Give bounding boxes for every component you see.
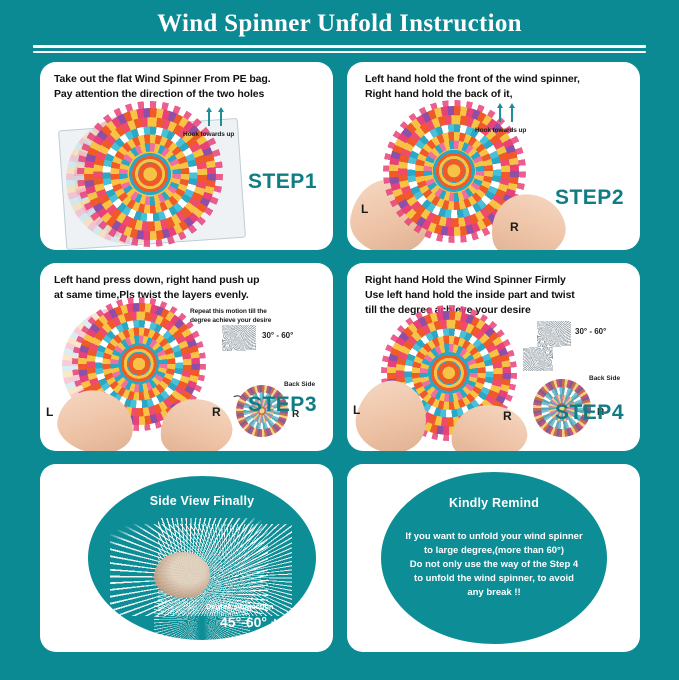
step2-right-hand-label: R: [510, 220, 519, 234]
step3-repeat-note-line2: degree achieve your desire: [190, 316, 271, 325]
remind-line-3: Do not only use the way of the Step 4: [381, 558, 607, 572]
step4-line-3: till the degree achieve your desire: [365, 303, 627, 318]
hook-arrow-left-icon: [208, 110, 210, 126]
panel-step2: Left hand hold the front of the wind spi…: [347, 62, 640, 250]
kindly-remind-title: Kindly Remind: [381, 496, 607, 510]
step2-left-hand-label: L: [361, 202, 368, 216]
step1-label: STEP1: [248, 170, 317, 194]
step3-line-2: at same time,Pls twist the layers evenly…: [54, 288, 322, 303]
step3-line-1: Left hand press down, right hand push up: [54, 273, 322, 288]
step2-line-1: Left hand hold the front of the wind spi…: [365, 72, 627, 87]
step1-line-1: Take out the flat Wind Spinner From PE b…: [54, 72, 322, 87]
step4-left-hand-label: L: [353, 403, 360, 417]
step3-instruction: Left hand press down, right hand push up…: [54, 273, 322, 303]
side-view-title: Side View Finally: [88, 494, 316, 508]
spinner-center: [138, 162, 162, 186]
step1-line-2: Pay attention the direction of the two h…: [54, 87, 322, 102]
instruction-poster: Wind Spinner Unfold Instruction Take out…: [0, 0, 679, 680]
step3-repeat-note-line1: Repeat this motion till the: [190, 307, 267, 316]
title-divider: [33, 45, 646, 53]
kindly-remind-ellipse: Kindly Remind If you want to unfold your…: [381, 472, 607, 644]
step4-degree-fan-icon: [537, 321, 571, 347]
kindly-remind-body: If you want to unfold your wind spinner …: [381, 530, 607, 600]
panel-kindly-remind: Kindly Remind If you want to unfold your…: [347, 464, 640, 652]
step2-instruction: Left hand hold the front of the wind spi…: [365, 72, 627, 102]
step4-right-hand-label: R: [503, 409, 512, 423]
step4-label: STEP4: [555, 401, 624, 425]
panel-step1: Take out the flat Wind Spinner From PE b…: [40, 62, 333, 250]
panel-step4: Right hand Hold the Wind Spinner Firmly …: [347, 263, 640, 451]
degree-suggestion-label: Degree suggestion: [206, 602, 274, 611]
divider-line-bottom: [33, 51, 646, 53]
spinner-side-core: [154, 552, 210, 598]
step2-line-2: Right hand hold the back of it,: [365, 87, 627, 102]
step4-instruction: Right hand Hold the Wind Spinner Firmly …: [365, 273, 627, 318]
remind-line-5: any break !!: [381, 586, 607, 600]
step1-instruction: Take out the flat Wind Spinner From PE b…: [54, 72, 322, 102]
remind-line-4: to unfold the wind spinner, to avoid: [381, 572, 607, 586]
steps-grid: Take out the flat Wind Spinner From PE b…: [40, 62, 640, 662]
step4-inset-title: Back Side: [589, 375, 620, 382]
step4-degree-value: 30° - 60°: [575, 327, 606, 336]
step4-degree-fan-icon-2: [523, 347, 553, 371]
step3-label: STEP3: [248, 393, 317, 417]
step3-degree-fan-icon: [222, 325, 256, 351]
wind-spinner-mandala: [84, 108, 216, 240]
side-view-ellipse: Side View Finally Degree suggestion 45°-…: [88, 476, 316, 640]
hook-arrow-right-icon: [220, 110, 222, 126]
hook-arrow-right-icon: [511, 106, 513, 122]
step1-hook-note: Hook towards up: [183, 130, 234, 139]
step2-hook-note: Hook towards up: [475, 126, 526, 135]
degree-suggestion-value: 45°-60° +: [220, 614, 279, 630]
step3-left-hand-label: L: [46, 405, 53, 419]
step3-degree-value: 30° - 60°: [262, 331, 293, 340]
divider-line-top: [33, 45, 646, 48]
page-title: Wind Spinner Unfold Instruction: [0, 10, 679, 38]
step4-line-2: Use left hand hold the inside part and t…: [365, 288, 627, 303]
spinner-center: [128, 353, 150, 375]
step3-right-hand-label: R: [212, 405, 221, 419]
remind-line-2: to large degree,(more than 60°): [381, 544, 607, 558]
hook-arrow-left-icon: [499, 106, 501, 122]
panel-step3: Left hand press down, right hand push up…: [40, 263, 333, 451]
step4-line-1: Right hand Hold the Wind Spinner Firmly: [365, 273, 627, 288]
panel-side-view: Side View Finally Degree suggestion 45°-…: [40, 464, 333, 652]
step2-label: STEP2: [555, 186, 624, 210]
remind-line-1: If you want to unfold your wind spinner: [381, 530, 607, 544]
step3-inset-title: Back Side: [284, 381, 315, 388]
